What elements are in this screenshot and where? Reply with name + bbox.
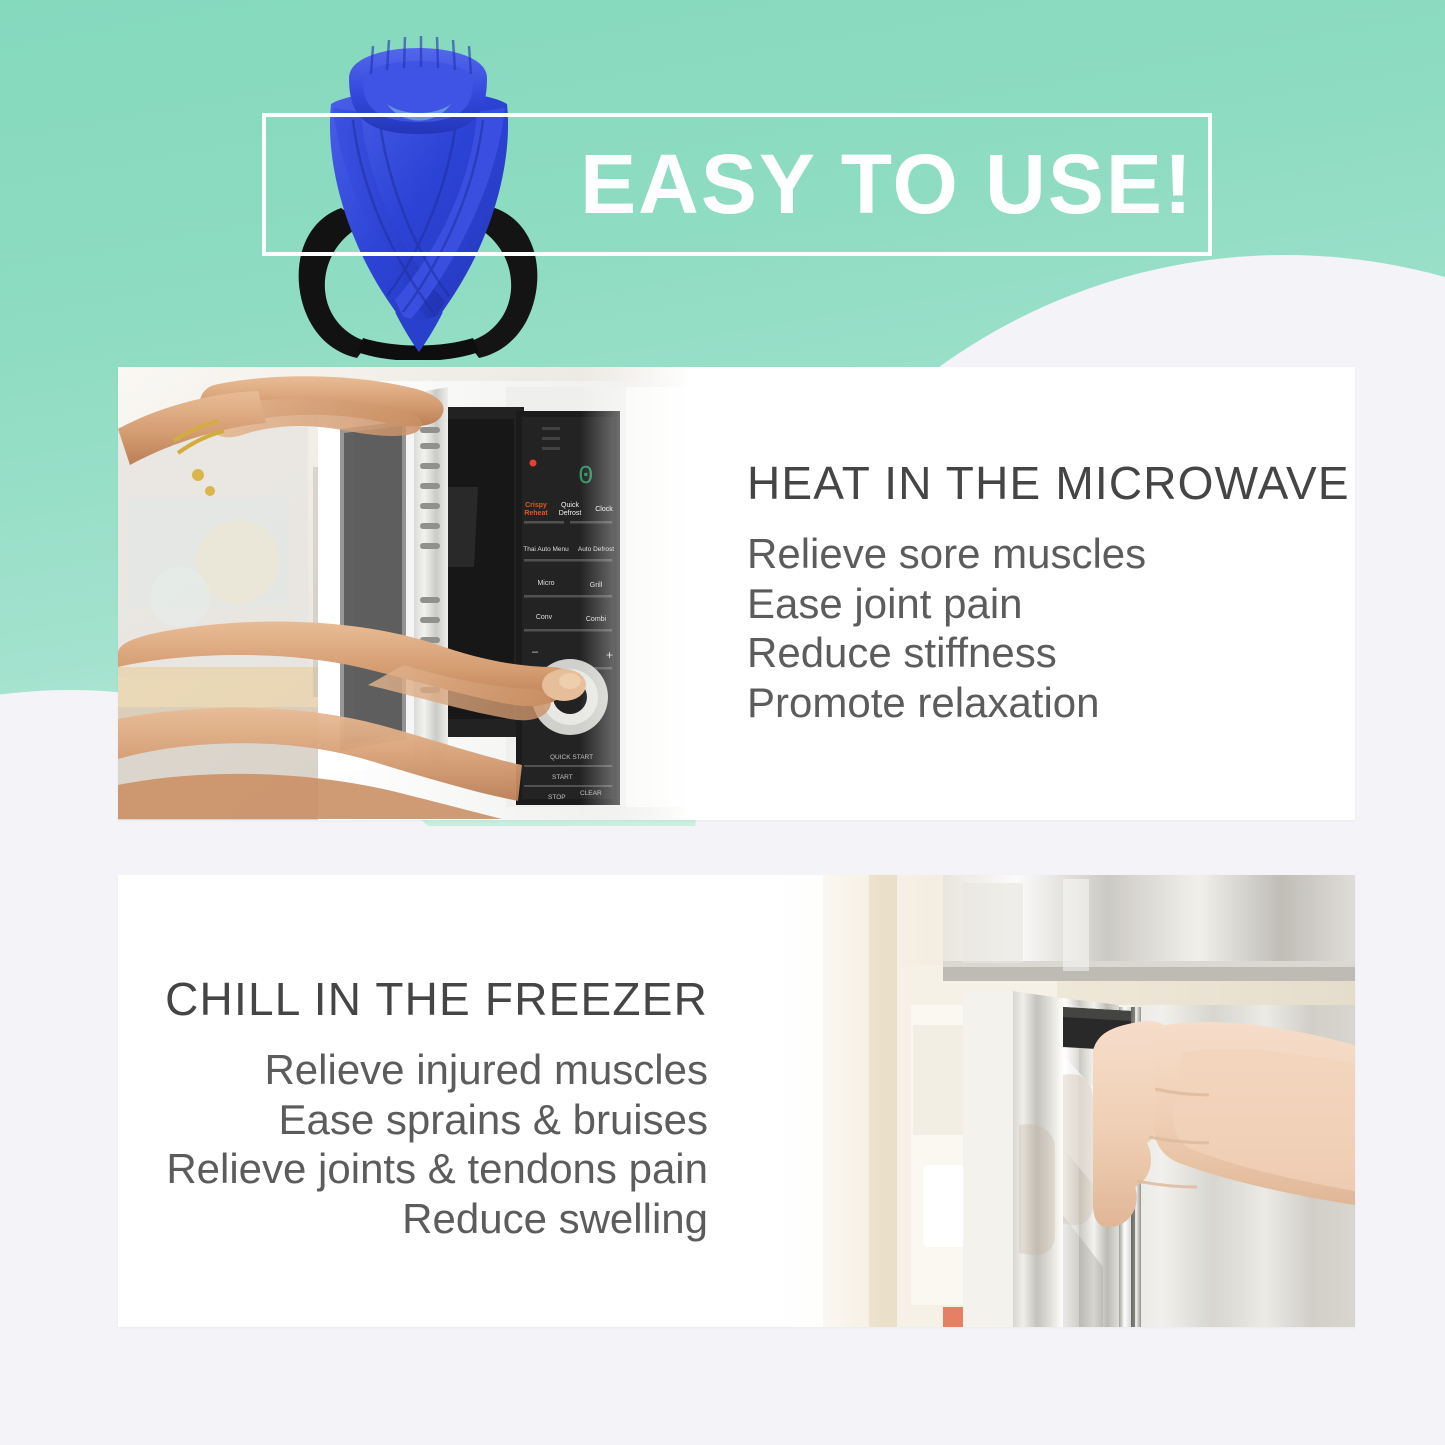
benefit-item: Reduce swelling [148, 1194, 708, 1244]
page-title: EASY TO USE! [262, 113, 1212, 256]
card-heat-microwave: 0 Crispy Reheat Quick Defrost Clock Thai… [118, 367, 1355, 820]
benefit-item: Relieve injured muscles [148, 1045, 708, 1095]
microwave-text-pane: HEAT IN THE MICROWAVE Relieve sore muscl… [700, 367, 1355, 820]
photo-fade-microwave [580, 367, 700, 820]
benefit-item: Reduce stiffness [747, 628, 1350, 678]
card-chill-freezer: CHILL IN THE FREEZER Relieve injured mus… [118, 875, 1355, 1327]
section-title-microwave: HEAT IN THE MICROWAVE [747, 459, 1350, 507]
benefit-item: Relieve sore muscles [747, 529, 1350, 579]
benefit-item: Relieve joints & tendons pain [148, 1144, 708, 1194]
hand-opening-freezer-photo [763, 875, 1355, 1327]
benefit-item: Promote relaxation [747, 678, 1350, 728]
benefit-list-microwave: Relieve sore muscles Ease joint pain Red… [747, 529, 1350, 727]
hand-opening-microwave-photo: 0 Crispy Reheat Quick Defrost Clock Thai… [118, 367, 700, 820]
infographic-canvas: EASY TO USE! [0, 0, 1445, 1445]
benefit-item: Ease sprains & bruises [148, 1095, 708, 1145]
benefit-item: Ease joint pain [747, 579, 1350, 629]
freezer-text-pane: CHILL IN THE FREEZER Relieve injured mus… [118, 875, 763, 1327]
section-title-freezer: CHILL IN THE FREEZER [148, 975, 708, 1023]
benefit-list-freezer: Relieve injured muscles Ease sprains & b… [148, 1045, 708, 1243]
photo-fade-freezer [763, 875, 883, 1327]
